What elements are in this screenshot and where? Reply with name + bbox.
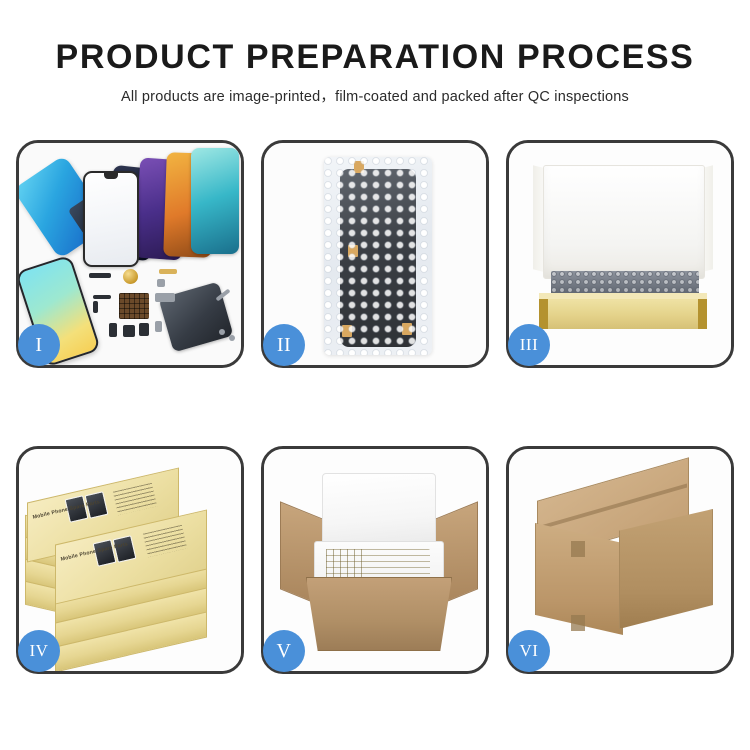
box-base-front bbox=[539, 299, 707, 329]
screw-component bbox=[219, 329, 225, 335]
step-badge-6: VI bbox=[508, 630, 550, 672]
carton-tape-patch bbox=[571, 541, 585, 557]
step-badge-5: V bbox=[263, 630, 305, 672]
component-part bbox=[139, 323, 149, 336]
box-inner-white-wall bbox=[543, 165, 705, 279]
carton-tape-patch bbox=[571, 615, 585, 631]
step-badge-2: II bbox=[263, 324, 305, 366]
process-step-panel-6: VI bbox=[506, 446, 734, 674]
process-step-panel-3: III bbox=[506, 140, 734, 368]
process-step-panel-5: V bbox=[261, 446, 489, 674]
component-part bbox=[93, 295, 111, 299]
component-part bbox=[157, 279, 165, 287]
component-part bbox=[89, 273, 111, 278]
process-step-panel-1: I bbox=[16, 140, 244, 368]
product-preparation-infographic: PRODUCT PREPARATION PROCESS All products… bbox=[0, 0, 750, 750]
chip-array-component bbox=[119, 293, 149, 319]
process-step-panel-4: Mobile Phone Spare Parts Mobile Phone Sp… bbox=[16, 446, 244, 674]
step-badge-4: IV bbox=[18, 630, 60, 672]
carton-body bbox=[306, 577, 452, 651]
box-corner-right bbox=[698, 299, 707, 329]
phone-display-teal bbox=[191, 148, 239, 254]
process-steps-grid: I II bbox=[16, 140, 734, 674]
step-badge-1: I bbox=[18, 324, 60, 366]
page-subtitle: All products are image-printed，film-coat… bbox=[0, 85, 750, 106]
bubble-texture-overlay bbox=[324, 157, 432, 355]
component-part bbox=[159, 269, 177, 274]
component-part bbox=[123, 325, 135, 337]
foam-cooler-lid bbox=[322, 473, 436, 549]
bubble-wrap-bag bbox=[324, 157, 432, 355]
speaker-component bbox=[123, 269, 138, 284]
phone-front-glass bbox=[83, 171, 139, 267]
page-title: PRODUCT PREPARATION PROCESS bbox=[0, 38, 750, 76]
box-corner-left bbox=[539, 299, 548, 329]
screw-component bbox=[229, 335, 235, 341]
process-step-panel-2: II bbox=[261, 140, 489, 368]
component-part bbox=[155, 321, 162, 332]
component-part bbox=[109, 323, 117, 337]
step-badge-3: III bbox=[508, 324, 550, 366]
header: PRODUCT PREPARATION PROCESS All products… bbox=[0, 38, 750, 106]
component-part bbox=[93, 301, 98, 313]
component-part bbox=[155, 293, 175, 302]
